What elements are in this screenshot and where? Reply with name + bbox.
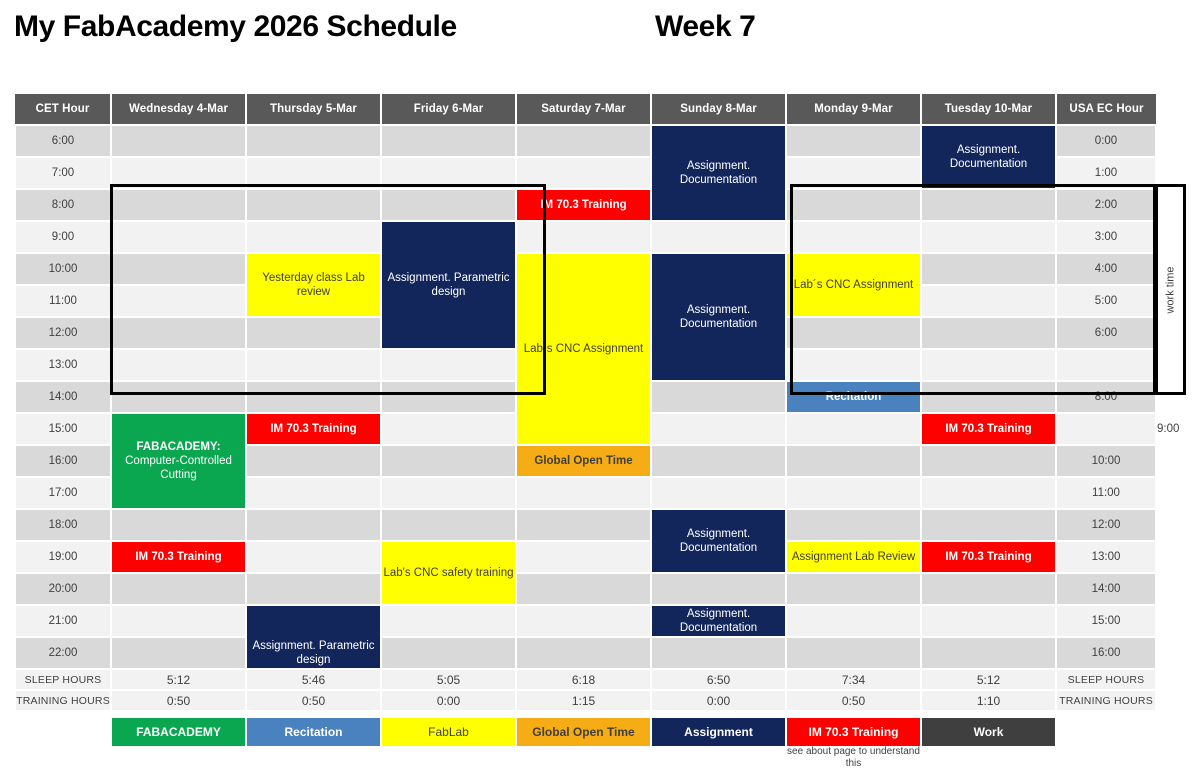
column-header-saturday: Saturday 7-Mar — [516, 94, 651, 125]
sleep-hours-sat: 6:18 — [516, 669, 651, 690]
usa-hour-cell: 16:00 — [1056, 637, 1156, 669]
column-header-monday: Monday 9-Mar — [786, 94, 921, 125]
sleep-hours-fri: 5:05 — [381, 669, 516, 690]
slot-sat-1900[interactable] — [516, 541, 651, 573]
event-mon-assignment-lab-review[interactable]: Assignment Lab Review — [786, 541, 921, 573]
cet-hour-cell: 8:00 — [15, 189, 111, 221]
slot-thu-1600[interactable] — [246, 445, 381, 477]
slot-wed-2100[interactable] — [111, 605, 246, 637]
slot-tue-1200[interactable] — [921, 317, 1056, 349]
legend-item-training[interactable]: IM 70.3 Training — [786, 717, 921, 747]
slot-tue-1600[interactable] — [921, 445, 1056, 477]
column-header-cet: CET Hour — [15, 94, 111, 125]
slot-fri-0600[interactable] — [381, 125, 516, 157]
slot-tue-1500[interactable] — [1056, 413, 1156, 445]
slot-tue-1800[interactable] — [921, 509, 1056, 541]
column-header-friday: Friday 6-Mar — [381, 94, 516, 125]
slot-fri-1500[interactable] — [381, 413, 516, 445]
cet-hour-cell: 21:00 — [15, 605, 111, 637]
cet-hour-cell: 7:00 — [15, 157, 111, 189]
sleep-hours-mon: 7:34 — [786, 669, 921, 690]
slot-mon-0600[interactable] — [786, 125, 921, 157]
slot-fri-1600[interactable] — [381, 445, 516, 477]
sleep-hours-label-right: SLEEP HOURS — [1056, 669, 1156, 690]
cet-hour-cell: 20:00 — [15, 573, 111, 605]
slot-fri-1400[interactable] — [381, 381, 516, 413]
slot-mon-1300[interactable] — [921, 349, 1056, 381]
usa-hour-cell: 14:00 — [1056, 573, 1156, 605]
table-row: 19:00 IM 70.3 Training Lab's CNC safety … — [15, 541, 1156, 573]
slot-wed-0800[interactable] — [111, 189, 246, 221]
work-time-label: work time — [1165, 266, 1177, 313]
event-mon-cnc-assignment[interactable]: Lab´s CNC Assignment — [786, 253, 921, 317]
sleep-hours-sun: 6:50 — [651, 669, 786, 690]
slot-sun-2200[interactable] — [651, 637, 786, 669]
slot-thu-2000[interactable] — [246, 573, 381, 605]
usa-hour-cell: 2:00 — [1056, 189, 1156, 221]
training-hours-label-right: TRAINING HOURS — [1056, 690, 1156, 711]
training-hours-fri: 0:00 — [381, 690, 516, 711]
usa-hour-cell: 1:00 — [1056, 157, 1156, 189]
cet-hour-cell: 11:00 — [15, 285, 111, 317]
slot-mon-1600[interactable] — [786, 445, 921, 477]
legend-table: FABACADEMY Recitation FabLab Global Open… — [14, 716, 1157, 748]
slot-sat-2200[interactable] — [516, 637, 651, 669]
training-hours-thu: 0:50 — [246, 690, 381, 711]
slot-mon-2200[interactable] — [786, 637, 921, 669]
summary-section: SLEEP HOURS 5:12 5:46 5:05 6:18 6:50 7:3… — [14, 668, 1155, 712]
slot-mon-1200[interactable] — [786, 317, 921, 349]
slot-wed-1300[interactable] — [111, 349, 246, 381]
slot-thu-1400[interactable] — [246, 381, 381, 413]
slot-mon-0700[interactable] — [786, 157, 921, 189]
legend-item-work[interactable]: Work — [921, 717, 1056, 747]
cet-hour-cell: 12:00 — [15, 317, 111, 349]
usa-hour-cell: 11:00 — [1056, 477, 1156, 509]
slot-tue-2100[interactable] — [921, 605, 1056, 637]
column-header-thursday: Thursday 5-Mar — [246, 94, 381, 125]
usa-hour-cell: 5:00 — [1056, 285, 1156, 317]
slot-sat-1700[interactable] — [516, 477, 651, 509]
event-fri-assignment-parametric-0900[interactable]: Assignment. Parametric design — [381, 221, 516, 349]
slot-mon-1700[interactable] — [786, 477, 921, 509]
slot-sat-1500[interactable] — [651, 413, 786, 445]
slot-sat-1800[interactable] — [516, 509, 651, 541]
slot-fri-1800[interactable] — [381, 509, 516, 541]
slot-thu-1800[interactable] — [246, 509, 381, 541]
slot-wed-2000[interactable] — [111, 573, 246, 605]
slot-wed-1200[interactable] — [111, 317, 246, 349]
cet-hour-cell: 17:00 — [15, 477, 111, 509]
slot-thu-1200[interactable] — [246, 317, 381, 349]
legend-item-assignment[interactable]: Assignment — [651, 717, 786, 747]
usa-hour-cell: 12:00 — [1056, 509, 1156, 541]
sleep-hours-row: SLEEP HOURS 5:12 5:46 5:05 6:18 6:50 7:3… — [15, 669, 1156, 690]
event-tue-assignment-documentation-0600[interactable]: Assignment. Documentation — [921, 125, 1056, 189]
legend-item-fablab[interactable]: FabLab — [381, 717, 516, 747]
slot-sun-1500[interactable] — [786, 413, 921, 445]
slot-wed-0700[interactable] — [111, 157, 246, 189]
usa-hour-cell: 15:00 — [1056, 605, 1156, 637]
slot-thu-0800[interactable] — [246, 189, 381, 221]
slot-mon-2100[interactable] — [786, 605, 921, 637]
cet-hour-cell: 6:00 — [15, 125, 111, 157]
week-label: Week 7 — [655, 10, 755, 44]
training-hours-label-left: TRAINING HOURS — [15, 690, 111, 711]
legend-spacer-right — [1056, 717, 1156, 747]
usa-hour-cell: 10:00 — [1056, 445, 1156, 477]
legend-item-recitation[interactable]: Recitation — [246, 717, 381, 747]
table-row: 18:00 Assignment. Documentation 12:00 — [15, 509, 1156, 541]
slot-sat-0900[interactable] — [516, 221, 651, 253]
table-header-row: CET Hour Wednesday 4-Mar Thursday 5-Mar … — [15, 94, 1156, 125]
slot-tue-0800[interactable] — [921, 189, 1056, 221]
slot-wed-0600[interactable] — [111, 125, 246, 157]
event-thu-training-1500[interactable]: IM 70.3 Training — [246, 413, 381, 445]
column-header-sunday: Sunday 8-Mar — [651, 94, 786, 125]
slot-tue-1400[interactable] — [921, 381, 1056, 413]
fabacademy-title: FABACADEMY: — [112, 440, 245, 454]
table-row: 6:00 Assignment. Documentation Assignmen… — [15, 125, 1156, 157]
fabacademy-subtitle: Computer-Controlled Cutting — [125, 455, 232, 481]
event-sat-cnc-assignment[interactable]: Lab´s CNC Assignment — [516, 253, 651, 445]
slot-thu-1700[interactable] — [246, 477, 381, 509]
slot-tue-1300[interactable] — [1056, 349, 1156, 381]
slot-tue-0900[interactable] — [921, 221, 1056, 253]
summary-table: SLEEP HOURS 5:12 5:46 5:05 6:18 6:50 7:3… — [14, 668, 1157, 712]
training-hours-sat: 1:15 — [516, 690, 651, 711]
legend-item-global-open-time[interactable]: Global Open Time — [516, 717, 651, 747]
table-row: 8:00 IM 70.3 Training 2:00 — [15, 189, 1156, 221]
cet-hour-cell: 10:00 — [15, 253, 111, 285]
slot-tue-1700[interactable] — [921, 477, 1056, 509]
table-row: 9:00 Assignment. Parametric design 3:00 — [15, 221, 1156, 253]
slot-sat-2000[interactable] — [516, 573, 651, 605]
sleep-hours-wed: 5:12 — [111, 669, 246, 690]
slot-tue-2200[interactable] — [921, 637, 1056, 669]
cet-hour-cell: 14:00 — [15, 381, 111, 413]
training-hours-row: TRAINING HOURS 0:50 0:50 0:00 1:15 0:00 … — [15, 690, 1156, 711]
slot-wed-1800[interactable] — [111, 509, 246, 541]
event-wed-fabacademy-computer-controlled-cutting[interactable]: FABACADEMY: Computer-Controlled Cutting — [111, 413, 246, 509]
training-hours-mon: 0:50 — [786, 690, 921, 711]
slot-thu-0700[interactable] — [246, 157, 381, 189]
event-mon-recitation[interactable]: Recitation — [786, 381, 921, 413]
cet-hour-cell: 15:00 — [15, 413, 111, 445]
slot-tue-2000[interactable] — [921, 573, 1056, 605]
sleep-hours-tue: 5:12 — [921, 669, 1056, 690]
schedule-page: My FabAcademy 2026 Schedule Week 7 CET H… — [0, 0, 1200, 778]
cet-hour-cell: 19:00 — [15, 541, 111, 573]
event-sat-training-0800[interactable]: IM 70.3 Training — [516, 189, 651, 221]
usa-hour-cell: 8:00 — [1056, 381, 1156, 413]
slot-sun-1600[interactable] — [651, 445, 786, 477]
event-fri-cnc-safety-training[interactable]: Lab's CNC safety training — [381, 541, 516, 605]
slot-mon-0900[interactable] — [786, 221, 921, 253]
slot-fri-1300[interactable] — [381, 349, 516, 381]
cet-hour-cell: 13:00 — [15, 349, 111, 381]
slot-sat-0700[interactable] — [516, 157, 651, 189]
usa-hour-cell: 6:00 — [1056, 317, 1156, 349]
cet-hour-cell: 18:00 — [15, 509, 111, 541]
legend-item-fabacademy[interactable]: FABACADEMY — [111, 717, 246, 747]
slot-sun-2000[interactable] — [651, 573, 786, 605]
slot-sun-1300[interactable] — [786, 349, 921, 381]
slot-wed-1000[interactable] — [111, 253, 246, 285]
slot-sun-0900[interactable] — [651, 221, 786, 253]
slot-fri-1700[interactable] — [381, 477, 516, 509]
slot-fri-2100[interactable] — [381, 605, 516, 637]
table-row: 22:00 16:00 — [15, 637, 1156, 669]
slot-wed-1100[interactable] — [111, 285, 246, 317]
cet-hour-cell: 9:00 — [15, 221, 111, 253]
page-title: My FabAcademy 2026 Schedule — [14, 10, 457, 44]
event-sat-global-open-time[interactable]: Global Open Time — [516, 445, 651, 477]
event-thu-yesterday-class-lab-review[interactable]: Yesterday class Lab review — [246, 253, 381, 317]
slot-fri-0700[interactable] — [381, 157, 516, 189]
usa-hour-cell: 3:00 — [1056, 221, 1156, 253]
training-hours-tue: 1:10 — [921, 690, 1056, 711]
legend-spacer — [15, 717, 111, 747]
slot-mon-0800[interactable] — [786, 189, 921, 221]
legend: FABACADEMY Recitation FabLab Global Open… — [14, 716, 1155, 746]
slot-tue-1100[interactable] — [921, 285, 1056, 317]
training-hours-sun: 0:00 — [651, 690, 786, 711]
slot-wed-2200[interactable] — [111, 637, 246, 669]
usa-hour-cell: 0:00 — [1056, 125, 1156, 157]
event-sun-assignment-documentation-1000[interactable]: Assignment. Documentation — [651, 253, 786, 381]
schedule-table: CET Hour Wednesday 4-Mar Thursday 5-Mar … — [14, 94, 1157, 702]
schedule-grid: CET Hour Wednesday 4-Mar Thursday 5-Mar … — [14, 94, 1155, 702]
table-row: 21:00 Assignment. Parametric design Assi… — [15, 605, 1156, 637]
slot-mon-2000[interactable] — [786, 573, 921, 605]
cet-hour-cell: 16:00 — [15, 445, 111, 477]
slot-sat-2100[interactable] — [516, 605, 651, 637]
slot-sun-1400[interactable] — [651, 381, 786, 413]
event-sun-assignment-documentation-0600[interactable]: Assignment. Documentation — [651, 125, 786, 221]
slot-thu-1900[interactable] — [246, 541, 381, 573]
usa-hour-cell: 4:00 — [1056, 253, 1156, 285]
column-header-wednesday: Wednesday 4-Mar — [111, 94, 246, 125]
slot-thu-1300[interactable] — [246, 349, 381, 381]
event-sun-assignment-documentation-2100[interactable]: Assignment. Documentation — [651, 605, 786, 637]
slot-tue-1000[interactable] — [921, 253, 1056, 285]
event-tue-training-1900[interactable]: IM 70.3 Training — [921, 541, 1056, 573]
slot-fri-0800[interactable] — [381, 189, 516, 221]
legend-note: see about page to understand this — [786, 746, 921, 770]
sleep-hours-label-left: SLEEP HOURS — [15, 669, 111, 690]
slot-thu-0900[interactable] — [246, 221, 381, 253]
work-time-label-box: work time — [1155, 184, 1186, 395]
event-wed-training-1900[interactable]: IM 70.3 Training — [111, 541, 246, 573]
slot-thu-0600[interactable] — [246, 125, 381, 157]
sleep-hours-thu: 5:46 — [246, 669, 381, 690]
slot-wed-0900[interactable] — [111, 221, 246, 253]
legend-row: FABACADEMY Recitation FabLab Global Open… — [15, 717, 1156, 747]
schedule-body: 6:00 Assignment. Documentation Assignmen… — [15, 125, 1156, 701]
column-header-usa: USA EC Hour — [1056, 94, 1156, 125]
page-title-bar: My FabAcademy 2026 Schedule Week 7 — [14, 10, 1186, 56]
table-row: 10:00 Yesterday class Lab review Lab´s C… — [15, 253, 1156, 285]
slot-sun-1700[interactable] — [651, 477, 786, 509]
training-hours-wed: 0:50 — [111, 690, 246, 711]
column-header-tuesday: Tuesday 10-Mar — [921, 94, 1056, 125]
cet-hour-cell: 22:00 — [15, 637, 111, 669]
event-mon-training-1500[interactable]: IM 70.3 Training — [921, 413, 1056, 445]
slot-wed-1400[interactable] — [111, 381, 246, 413]
usa-hour-cell: 13:00 — [1056, 541, 1156, 573]
event-sun-assignment-documentation-1800[interactable]: Assignment. Documentation — [651, 509, 786, 573]
slot-sat-0600[interactable] — [516, 125, 651, 157]
table-row: 20:00 14:00 — [15, 573, 1156, 605]
slot-mon-1800[interactable] — [786, 509, 921, 541]
slot-fri-2200[interactable] — [381, 637, 516, 669]
